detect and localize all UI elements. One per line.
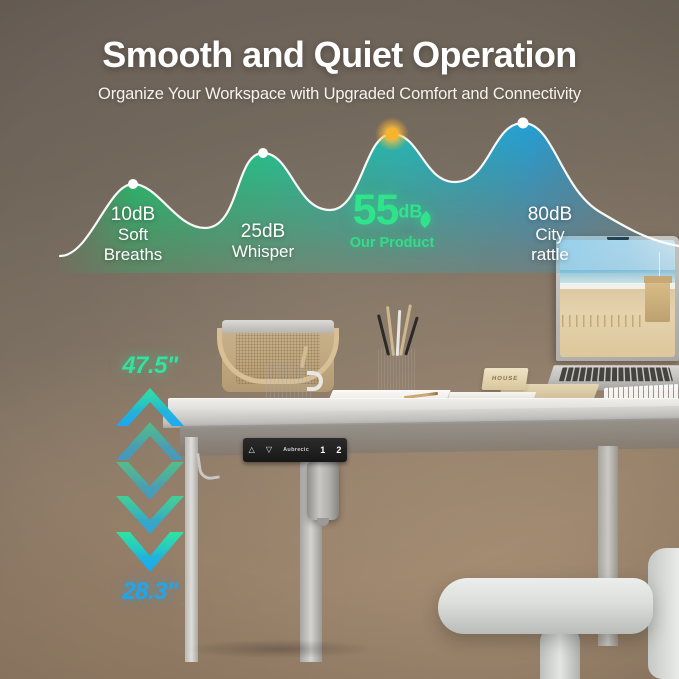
chevron-down-icon — [116, 496, 184, 534]
panel-brand-logo: Aubrecic — [283, 447, 309, 453]
noise-desc-line1: Whisper — [203, 242, 323, 261]
height-chevrons — [100, 382, 200, 578]
panel-preset-2-button[interactable]: 2 — [336, 445, 341, 455]
panel-preset-1-button[interactable]: 1 — [320, 445, 325, 455]
noise-value-25db: 25 — [241, 221, 262, 242]
noise-unit: dB — [262, 221, 285, 242]
noise-label-soft-breaths: 10dB Soft Breaths — [73, 204, 193, 264]
noise-desc-line1: Our Product — [332, 235, 452, 251]
noise-value-10db: 10 — [111, 204, 132, 225]
noise-desc-line1: Soft — [73, 225, 193, 244]
height-min-label: 28.3" — [88, 578, 212, 606]
noise-value-80db: 80 — [528, 204, 549, 225]
house-sign-label: HOUSE — [491, 376, 518, 382]
chevron-down-icon — [116, 462, 184, 500]
product-marketing-image: HOUSE △ ▽ Aubrecic 1 2 Smooth — [0, 0, 679, 679]
noise-value-55db: 55 — [353, 186, 399, 234]
laptop-keyboard — [559, 368, 673, 382]
noise-label-our-product: 55dB Our Product — [332, 186, 452, 251]
panel-down-icon[interactable]: ▽ — [266, 446, 272, 454]
noise-wave-labels: 10dB Soft Breaths 25dB Whisper 55dB Our … — [0, 108, 679, 273]
noise-label-whisper: 25dB Whisper — [203, 221, 323, 262]
height-range-indicator: 47.5" 28.3" — [88, 352, 212, 604]
noise-unit: dB — [549, 204, 572, 225]
desk-lift-motor — [307, 462, 339, 520]
house-decor-sign: HOUSE — [481, 368, 528, 390]
page-title: Smooth and Quiet Operation — [0, 34, 679, 76]
height-max-label: 47.5" — [88, 352, 212, 380]
chevron-up-icon — [116, 388, 184, 426]
panel-up-icon[interactable]: △ — [249, 446, 255, 454]
chevron-down-icon — [116, 532, 184, 572]
header: Smooth and Quiet Operation Organize Your… — [0, 34, 679, 104]
chair-armrest — [438, 578, 653, 634]
desk-control-panel[interactable]: △ ▽ Aubrecic 1 2 — [243, 438, 347, 462]
floor-shadow — [150, 636, 410, 662]
noise-unit: dB — [398, 202, 422, 222]
wallpaper-lifeguard-tower — [645, 282, 670, 322]
noise-unit: dB — [132, 204, 155, 225]
noise-desc-line2: Breaths — [73, 245, 193, 264]
page-subtitle: Organize Your Workspace with Upgraded Co… — [0, 85, 679, 104]
wallpaper-fence — [562, 315, 645, 327]
chevron-up-icon — [116, 422, 184, 460]
noise-label-city-rattle: 80dB City rattle — [490, 204, 610, 264]
noise-desc-line1: City — [490, 225, 610, 244]
noise-desc-line2: rattle — [490, 245, 610, 264]
noise-level-chart: 10dB Soft Breaths 25dB Whisper 55dB Our … — [0, 108, 679, 273]
